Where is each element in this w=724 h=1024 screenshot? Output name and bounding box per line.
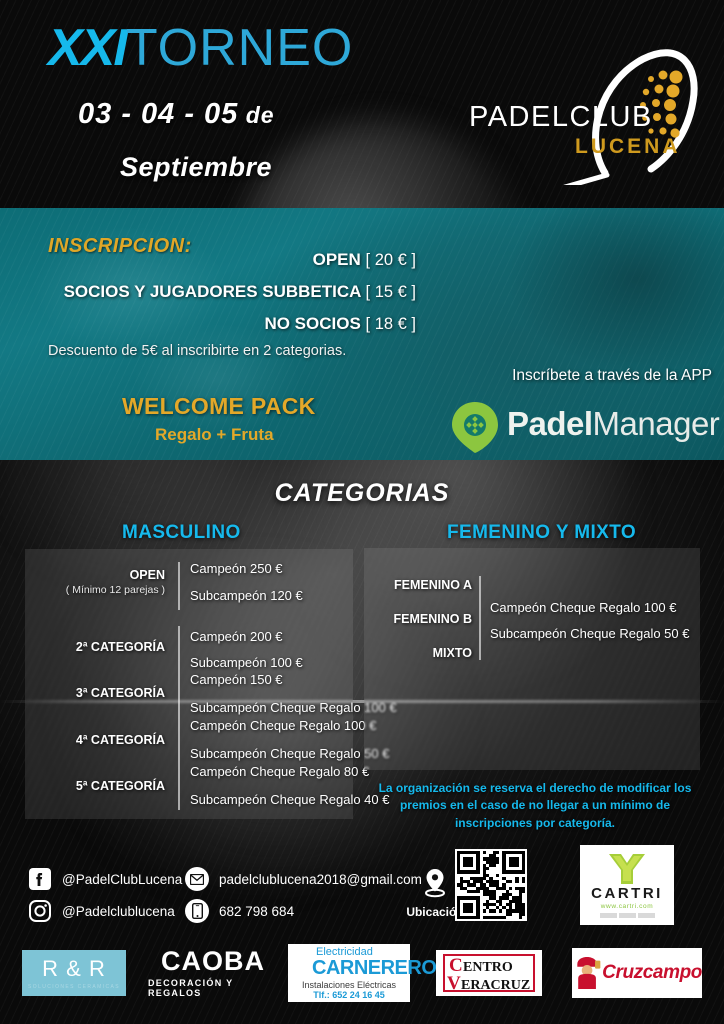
phone-number: 682 798 684 [219,904,294,919]
welcome-pack-title: WELCOME PACK [122,393,316,420]
contact-facebook[interactable]: @PadelClubLucena [28,867,182,891]
facebook-icon [28,867,52,891]
sponsor-caoba[interactable]: CAOBA DECORACIÓN Y REGALOS [148,950,278,996]
prize-text: Campeón Cheque Regalo 80 € [190,764,369,779]
cartri-url: www.cartri.com [601,903,653,910]
row-divider [178,672,180,718]
sponsor-carnerero-phone: Tlf.: 652 24 16 45 [313,990,385,1000]
categories-title: CATEGORIAS [0,479,724,508]
sponsor-ryr-name: R & R [42,956,106,982]
event-dates-de: de [238,102,274,128]
cartri-logo-icon [607,852,647,886]
instagram-icon [28,899,52,923]
price-row-amount: [ 20 € ] [366,251,416,269]
category-name: 2ª CATEGORÍA [76,640,165,656]
discount-note: Descuento de 5€ al inscribirte en 2 cate… [48,343,346,359]
row-divider [479,576,481,660]
instagram-handle: @Padelclublucena [62,904,175,919]
category-row-4: 4ª CATEGORÍA [35,733,165,749]
sponsor-carnerero-line3: Instalaciones Eléctricas [302,980,396,990]
title-word: TORNEO [126,19,354,77]
category-name: 5ª CATEGORÍA [76,779,165,795]
category-row-5: 5ª CATEGORÍA [35,779,165,795]
app-signup-note: Inscríbete a través de la APP [512,367,712,385]
prize-text: Campeón Cheque Regalo 100 € [490,600,676,615]
email-address: padelclublucena2018@gmail.com [219,872,422,887]
facebook-handle: @PadelClubLucena [62,872,182,887]
femenino-heading: FEMENINO Y MIXTO [447,522,636,544]
price-row-amount: [ 18 € ] [366,315,416,333]
category-name: 4ª CATEGORÍA [76,733,165,749]
sponsor-centro-veracruz[interactable]: C ENTRO V ERACRUZ [436,950,542,996]
category-name: 3ª CATEGORÍA [76,686,165,702]
padelmanager-mark-icon [449,400,501,455]
price-row: SOCIOS Y JUGADORES SUBBETICA [ 15 € ] [64,282,416,302]
prize-text: Subcampeón Cheque Regalo 50 € [490,626,689,641]
prize-text: Campeón 200 € [190,629,283,644]
padelmanager-manager: Manager [593,405,720,442]
location-pin-icon [423,868,447,898]
club-name-padel: PADEL [469,101,569,133]
mail-icon [185,867,209,891]
contact-instagram[interactable]: @Padelclublucena [28,899,175,923]
sponsor-cruzcampo[interactable]: Cruzcampo [572,948,702,998]
row-divider [178,562,180,610]
sponsor-caoba-name: CAOBA [161,948,265,975]
category-row-open: OPEN ( Mínimo 12 parejas ) [35,568,165,597]
price-row-amount: [ 15 € ] [366,283,416,301]
prize-text: Campeón 150 € [190,672,283,687]
sponsor-caoba-tagline: DECORACIÓN Y REGALOS [148,978,278,998]
row-divider [178,718,180,764]
prize-text: Subcampeón 120 € [190,588,303,603]
category-name: FEMENINO A [394,578,472,594]
padelmanager-wordmark: PadelManager [507,405,719,443]
row-divider [178,764,180,810]
event-dates: 03 - 04 - 05 de [78,98,275,131]
svg-text:ENTRO: ENTRO [463,960,513,975]
contact-email[interactable]: padelclublucena2018@gmail.com [185,867,422,891]
category-row-3: 3ª CATEGORÍA [35,686,165,702]
padel-club-lucena-logo: PADELCLUB LUCENA [455,45,700,185]
welcome-pack-detail: Regalo + Fruta [155,425,274,445]
price-row: NO SOCIOS [ 18 € ] [64,314,416,334]
sponsor-ryr[interactable]: R & R SOLUCIONES CERAMICAS [22,950,126,996]
masculino-heading: MASCULINO [122,522,241,544]
poster-header: XXITORNEO 03 - 04 - 05 de Septiembre PAD… [0,0,724,208]
centro-veracruz-logo-icon: C ENTRO V ERACRUZ [439,952,539,994]
event-month: Septiembre [120,152,272,183]
category-row-2: 2ª CATEGORÍA [35,640,165,656]
sponsor-cruzcampo-name: Cruzcampo [602,962,702,984]
qr-code[interactable] [455,849,527,921]
price-row-name: OPEN [313,250,361,269]
club-name: PADELCLUB [469,103,653,132]
category-name: MIXTO [433,646,472,662]
sponsor-carnerero-name: CARNERERO [312,958,436,978]
category-name: FEMENINO B [394,612,472,628]
price-row: OPEN [ 20 € ] [64,250,416,270]
disclaimer-text: La organización se reserva el derecho de… [370,780,700,832]
edition-number: XXI [48,19,126,77]
inscription-banner: INSCRIPCION: OPEN [ 20 € ] SOCIOS Y JUGA… [0,208,724,460]
inscription-price-list: OPEN [ 20 € ] SOCIOS Y JUGADORES SUBBETI… [64,250,416,346]
tournament-poster: XXITORNEO 03 - 04 - 05 de Septiembre PAD… [0,0,724,1024]
category-label: OPEN [130,568,165,582]
category-row-femenino-b: FEMENINO B [368,612,472,628]
category-note: ( Mínimo 12 parejas ) [66,584,165,597]
qr-code-pattern [457,851,525,919]
category-row-mixto: MIXTO [368,646,472,662]
contact-phone[interactable]: 682 798 684 [185,899,294,923]
sponsor-strip: R & R SOLUCIONES CERAMICAS CAOBA DECORAC… [0,940,724,1024]
prize-text: Subcampeón 100 € [190,655,303,670]
page-title: XXITORNEO [48,22,353,74]
category-row-femenino-a: FEMENINO A [368,578,472,594]
padelmanager-logo[interactable]: PadelManager [449,400,714,455]
cartri-social-bar [600,913,655,918]
price-row-name: NO SOCIOS [264,314,360,333]
row-divider [178,626,180,672]
cartri-wordmark: CARTRI [591,886,663,901]
padelmanager-padel: Padel [507,405,593,442]
price-row-name: SOCIOS Y JUGADORES SUBBETICA [64,282,361,301]
club-city: LUCENA [575,135,681,159]
prize-text: Subcampeón Cheque Regalo 40 € [190,792,389,807]
prize-text: Campeón 250 € [190,561,283,576]
prize-text: Subcampeón Cheque Regalo 50 € [190,746,389,761]
event-dates-numbers: 03 - 04 - 05 [78,98,238,130]
phone-icon [185,899,209,923]
club-name-club: CLUB [569,101,652,133]
sponsor-cartri[interactable]: CARTRI www.cartri.com [580,845,674,925]
sponsor-ryr-tagline: SOLUCIONES CERAMICAS [28,984,120,990]
sponsor-carnerero[interactable]: Electricidad CARNERERO Instalaciones Elé… [288,944,410,1002]
cruzcampo-mascot-icon [572,953,602,993]
category-name: OPEN ( Mínimo 12 parejas ) [66,568,165,597]
prize-text: Campeón Cheque Regalo 100 € [190,718,376,733]
